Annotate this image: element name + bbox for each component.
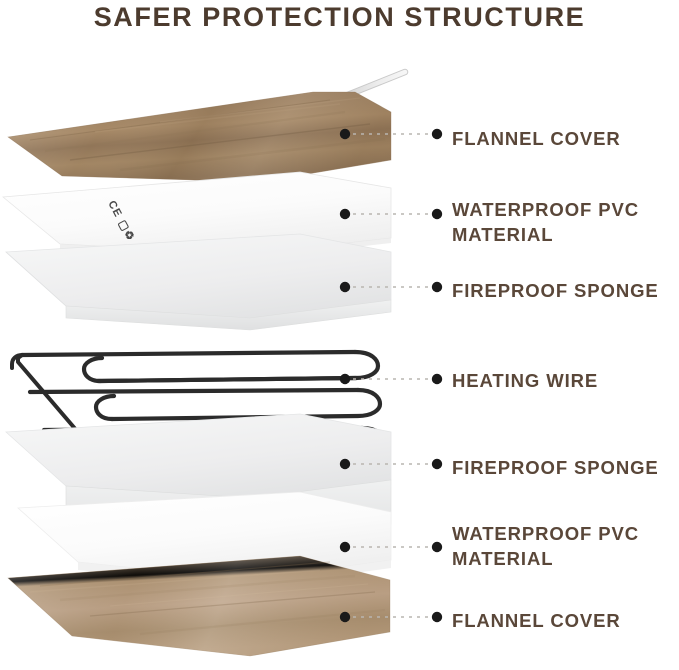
- layer-flannel-cover-top: [8, 92, 391, 182]
- layer-label-flannel-cover-bottom: FLANNEL COVER: [452, 608, 621, 633]
- layer-label-fireproof-sponge-top: FIREPROOF SPONGE: [452, 278, 659, 303]
- leader-flannel-cover-bottom-source-bullet: [340, 612, 350, 622]
- leader-fireproof-sponge-bottom-target-bullet: [432, 459, 442, 469]
- layer-label-heating-wire: HEATING WIRE: [452, 368, 598, 393]
- layer-fireproof-sponge-top: [6, 234, 391, 330]
- layer-label-flannel-cover-top: FLANNEL COVER: [452, 126, 621, 151]
- leader-heating-wire-source-bullet: [340, 374, 350, 384]
- leader-flannel-cover-top-source-bullet: [340, 129, 350, 139]
- leader-waterproof-pvc-top-source-bullet: [340, 209, 350, 219]
- leader-waterproof-pvc-bottom-target-bullet: [432, 542, 442, 552]
- leader-heating-wire-target-bullet: [432, 374, 442, 384]
- layer-flannel-cover-bottom: [8, 556, 390, 656]
- layer-label-waterproof-pvc-bottom: WATERPROOF PVC MATERIAL: [452, 521, 639, 571]
- leader-flannel-cover-top-target-bullet: [432, 129, 442, 139]
- leader-waterproof-pvc-top-target-bullet: [432, 209, 442, 219]
- leader-fireproof-sponge-bottom-source-bullet: [340, 459, 350, 469]
- layer-label-waterproof-pvc-top: WATERPROOF PVC MATERIAL: [452, 197, 639, 247]
- leader-waterproof-pvc-bottom-source-bullet: [340, 542, 350, 552]
- leader-flannel-cover-bottom-target-bullet: [432, 612, 442, 622]
- leader-fireproof-sponge-top-target-bullet: [432, 282, 442, 292]
- leader-fireproof-sponge-top-source-bullet: [340, 282, 350, 292]
- layer-label-fireproof-sponge-bottom: FIREPROOF SPONGE: [452, 455, 659, 480]
